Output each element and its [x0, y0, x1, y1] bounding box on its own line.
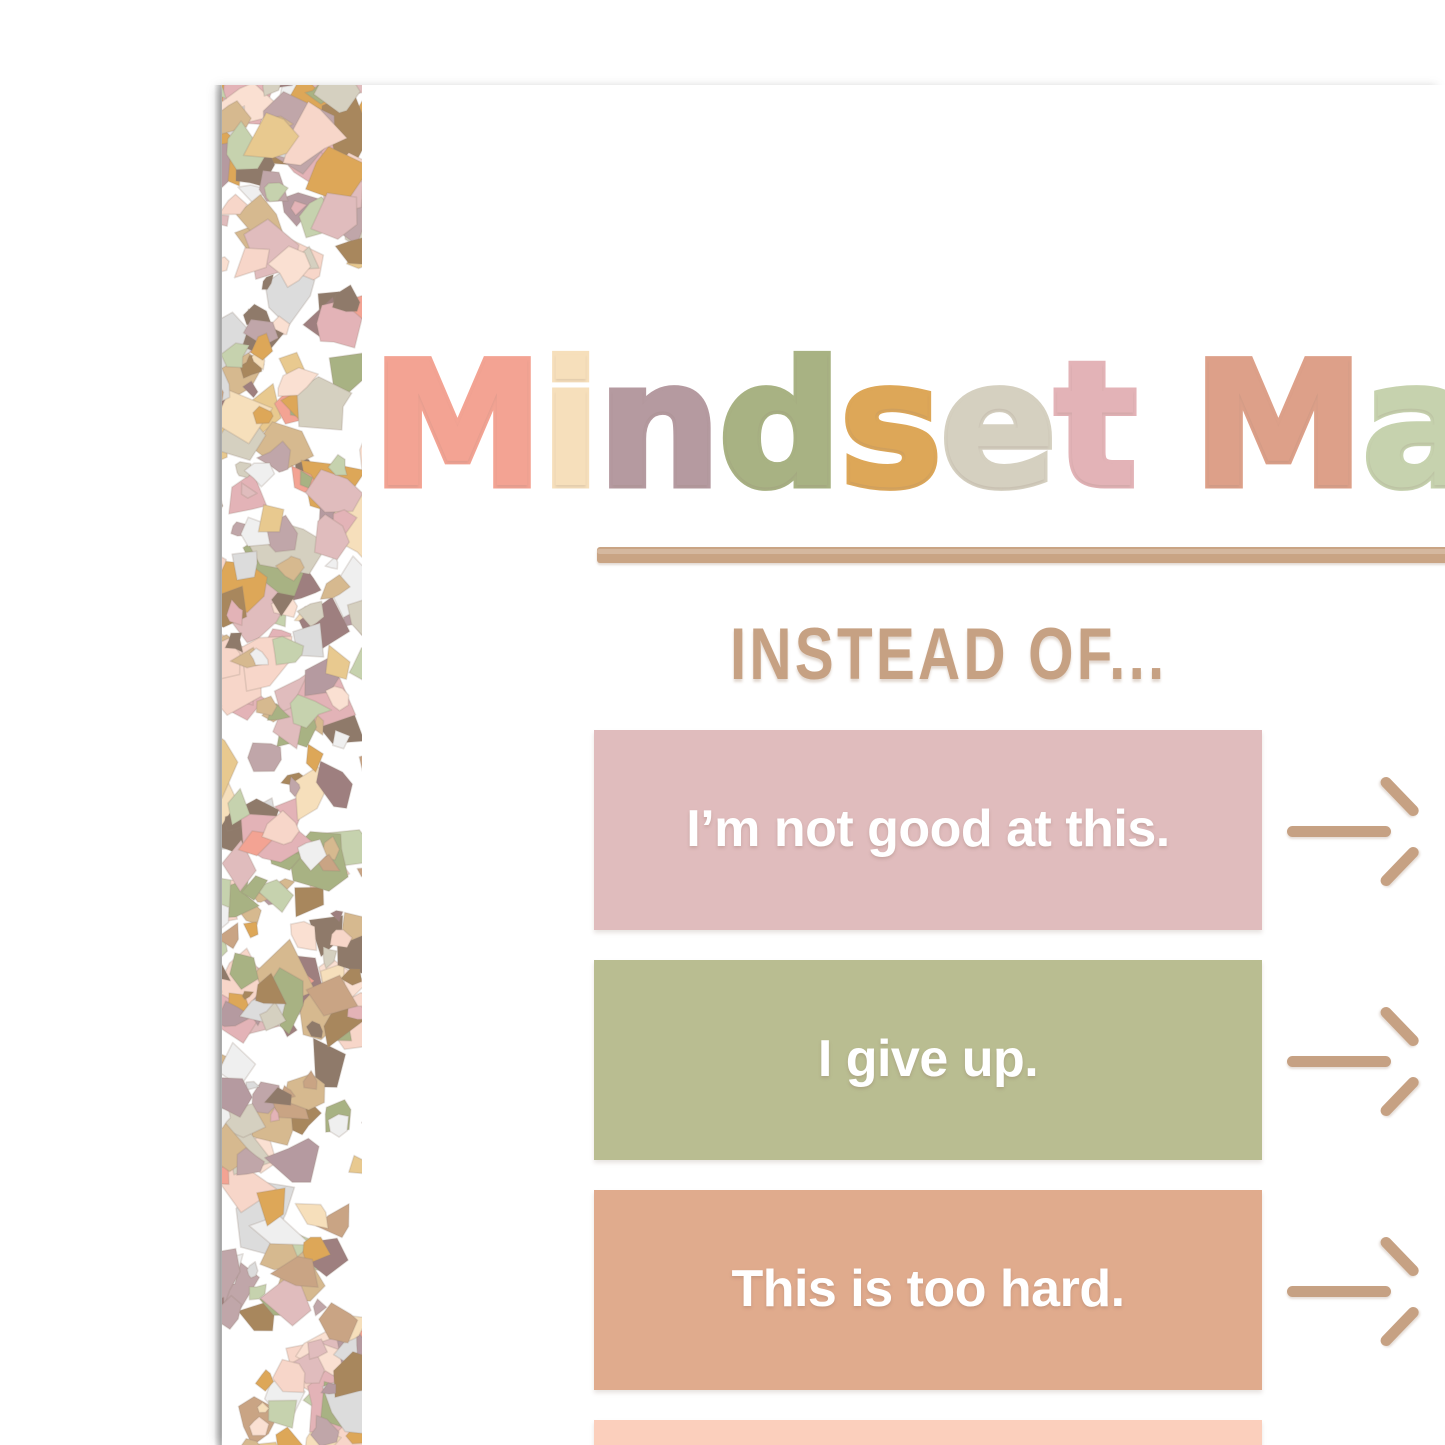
- fixed-mindset-text: I’m not good at this.: [660, 798, 1195, 861]
- arrow-right-icon: [1287, 1038, 1415, 1084]
- title-letter-8: M: [1193, 333, 1362, 518]
- title-letter-7: [1135, 333, 1193, 518]
- poster-sheet: Mindset Mat INSTEAD OF... TRY T I’m not …: [222, 85, 1445, 1445]
- title-letter-0: M: [372, 333, 541, 518]
- poster-screenshot: Mindset Mat INSTEAD OF... TRY T I’m not …: [0, 0, 1445, 1445]
- fixed-mindset-box: I’m afraid of: [594, 1420, 1262, 1445]
- title-letter-9: a: [1362, 333, 1445, 518]
- title-letter-2: n: [598, 333, 718, 518]
- arrow-right-icon: [1287, 1268, 1415, 1314]
- title-letter-6: t: [1055, 333, 1135, 518]
- fixed-mindset-text: I give up.: [792, 1028, 1064, 1091]
- title-divider: [597, 547, 1445, 563]
- fixed-mindset-box: This is too hard.: [594, 1190, 1262, 1390]
- page-title: Mindset Mat: [372, 333, 1445, 518]
- arrow-right-icon: [1287, 808, 1415, 854]
- fixed-mindset-box: I’m not good at this.: [594, 730, 1262, 930]
- title-letter-5: e: [940, 333, 1055, 518]
- fixed-mindset-text: This is too hard.: [705, 1258, 1150, 1321]
- title-letter-3: d: [719, 333, 840, 518]
- title-letter-4: s: [840, 333, 940, 518]
- fixed-mindset-box: I give up.: [594, 960, 1262, 1160]
- title-letter-1: i: [541, 333, 598, 518]
- column-header-instead-of: INSTEAD OF...: [730, 610, 1167, 700]
